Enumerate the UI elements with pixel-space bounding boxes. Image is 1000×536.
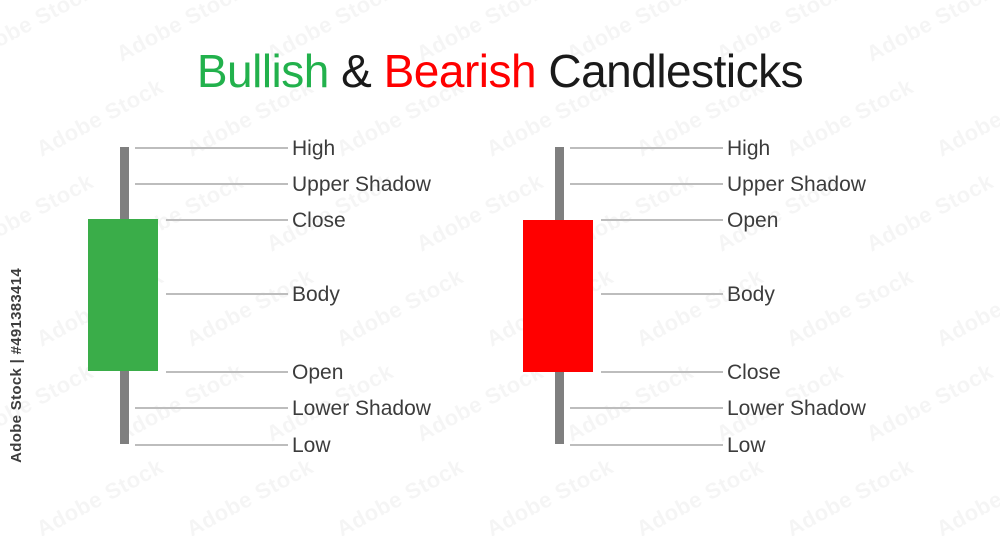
leader-line-lower-shadow [570,407,723,409]
leader-line-upper-shadow [570,183,723,185]
page-title: Bullish & Bearish Candlesticks [0,44,1000,98]
label-close: Close [727,362,781,383]
label-upper-shadow: Upper Shadow [292,174,431,195]
leader-line-upper-shadow [135,183,288,185]
label-lower-shadow: Lower Shadow [727,398,866,419]
bearish-lower-wick [555,371,564,444]
leader-line-high [135,147,288,149]
title-candlesticks-word: Candlesticks [536,45,803,97]
title-bearish-word: Bearish [384,45,536,97]
label-upper-shadow: Upper Shadow [727,174,866,195]
title-ampersand: & [329,45,384,97]
leader-line-low [135,444,288,446]
leader-line-close [601,371,723,373]
label-low: Low [292,435,331,456]
bearish-candle-body [523,220,593,372]
label-high: High [292,138,335,159]
bearish-upper-wick [555,147,564,221]
leader-line-body [601,293,723,295]
leader-line-close [166,219,288,221]
bullish-lower-wick [120,370,129,444]
label-low: Low [727,435,766,456]
candlestick-infographic: Adobe StockAdobe StockAdobe StockAdobe S… [0,0,1000,536]
label-body: Body [292,284,340,305]
label-close: Close [292,210,346,231]
leader-line-body [166,293,288,295]
label-body: Body [727,284,775,305]
label-lower-shadow: Lower Shadow [292,398,431,419]
stock-credit-label: Adobe Stock | #491383414 [8,268,25,463]
leader-line-high [570,147,723,149]
title-bullish-word: Bullish [197,45,329,97]
label-open: Open [727,210,778,231]
label-open: Open [292,362,343,383]
bullish-candle-body [88,219,158,371]
leader-line-low [570,444,723,446]
bullish-upper-wick [120,147,129,220]
label-high: High [727,138,770,159]
leader-line-open [601,219,723,221]
leader-line-open [166,371,288,373]
leader-line-lower-shadow [135,407,288,409]
